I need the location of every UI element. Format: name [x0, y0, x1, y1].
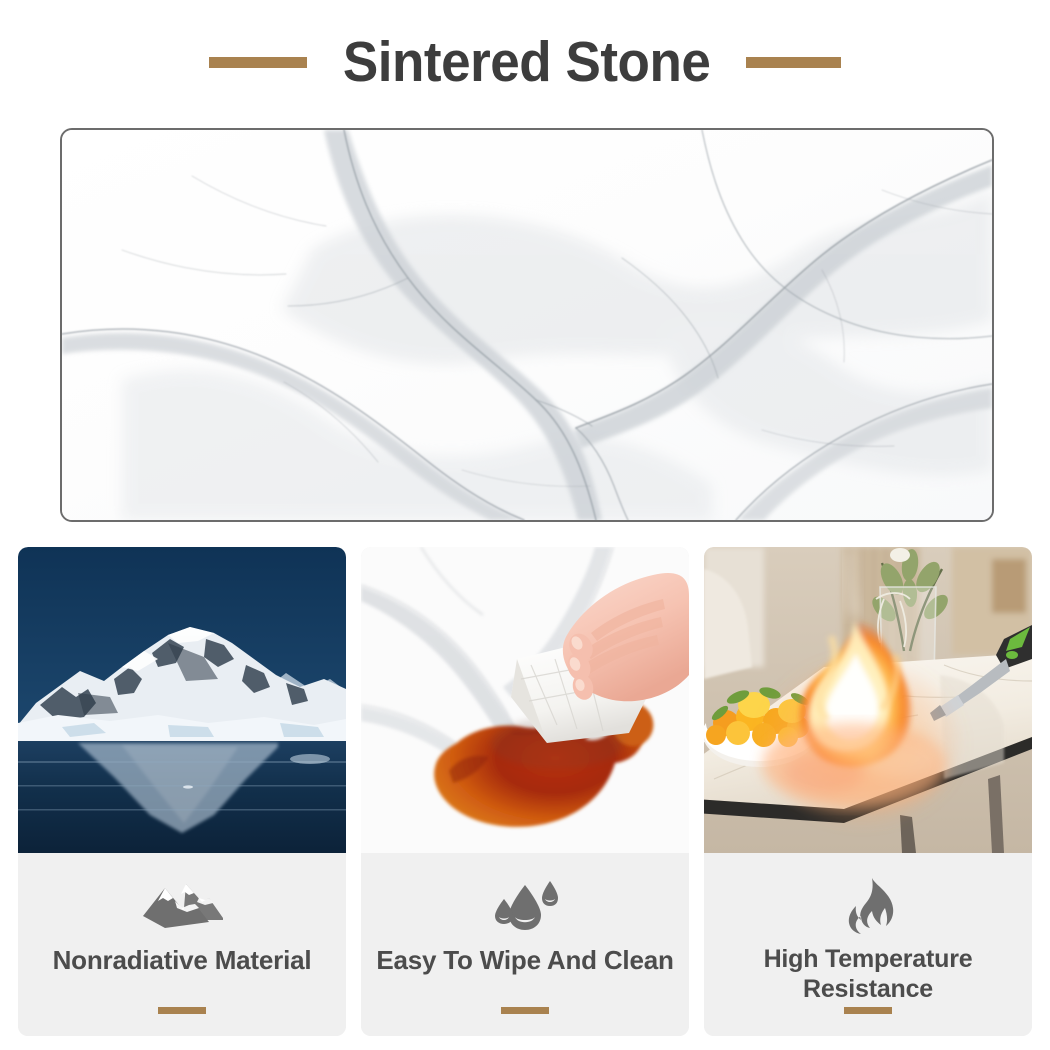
torch-photo-art: [704, 547, 1032, 853]
feature-card-label: Nonradiative Material: [45, 945, 320, 976]
blowtorch-flame-table-photo: [704, 547, 1032, 853]
hand-wiping-spill-photo: [361, 547, 689, 853]
feature-card-body: Easy To Wipe And Clean: [361, 853, 689, 1036]
water-droplet-icon: [488, 875, 562, 937]
title-rule-left: [209, 57, 307, 68]
feature-card-heat-resistant[interactable]: High Temperature Resistance: [704, 547, 1032, 1036]
feature-card-row: Nonradiative Material: [18, 547, 1032, 1036]
feature-card-nonradiative[interactable]: Nonradiative Material: [18, 547, 346, 1036]
title-rule-right: [746, 57, 841, 68]
feature-card-accent: [158, 1007, 206, 1014]
feature-card-accent: [844, 1007, 892, 1014]
snow-mountain-reflection-photo: [18, 547, 346, 853]
flame-icon-glyph: [841, 876, 895, 936]
water-droplet-icon-glyph: [488, 877, 562, 935]
wipe-photo-art: [361, 547, 689, 853]
feature-card-label: High Temperature Resistance: [704, 945, 1032, 1004]
feature-card-easy-clean[interactable]: Easy To Wipe And Clean: [361, 547, 689, 1036]
page-header: Sintered Stone: [0, 0, 1050, 118]
feature-card-label: Easy To Wipe And Clean: [368, 945, 681, 976]
marble-texture: [62, 130, 992, 520]
mountain-photo-art: [18, 547, 346, 853]
mountains-icon: [139, 875, 225, 937]
page-title: Sintered Stone: [343, 34, 711, 91]
feature-card-body: High Temperature Resistance: [704, 853, 1032, 1036]
feature-card-accent: [501, 1007, 549, 1014]
feature-card-body: Nonradiative Material: [18, 853, 346, 1036]
mountains-icon-glyph: [139, 878, 225, 934]
flame-icon: [841, 875, 895, 937]
sintered-stone-slab: [60, 128, 994, 522]
